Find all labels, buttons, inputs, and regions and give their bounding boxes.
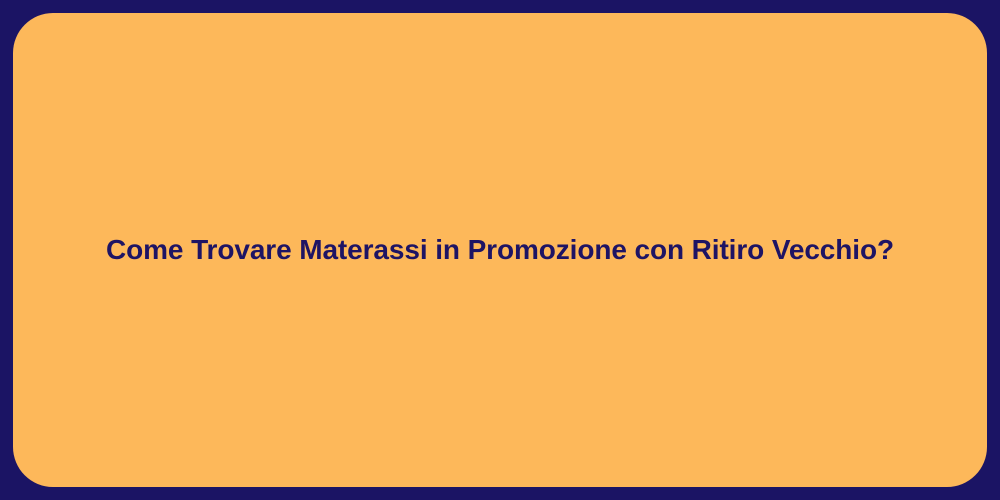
page-title: Come Trovare Materassi in Promozione con… — [53, 231, 947, 269]
content-card: Come Trovare Materassi in Promozione con… — [13, 13, 987, 487]
card-content-area: Come Trovare Materassi in Promozione con… — [13, 231, 987, 269]
page-background: Come Trovare Materassi in Promozione con… — [0, 0, 1000, 500]
